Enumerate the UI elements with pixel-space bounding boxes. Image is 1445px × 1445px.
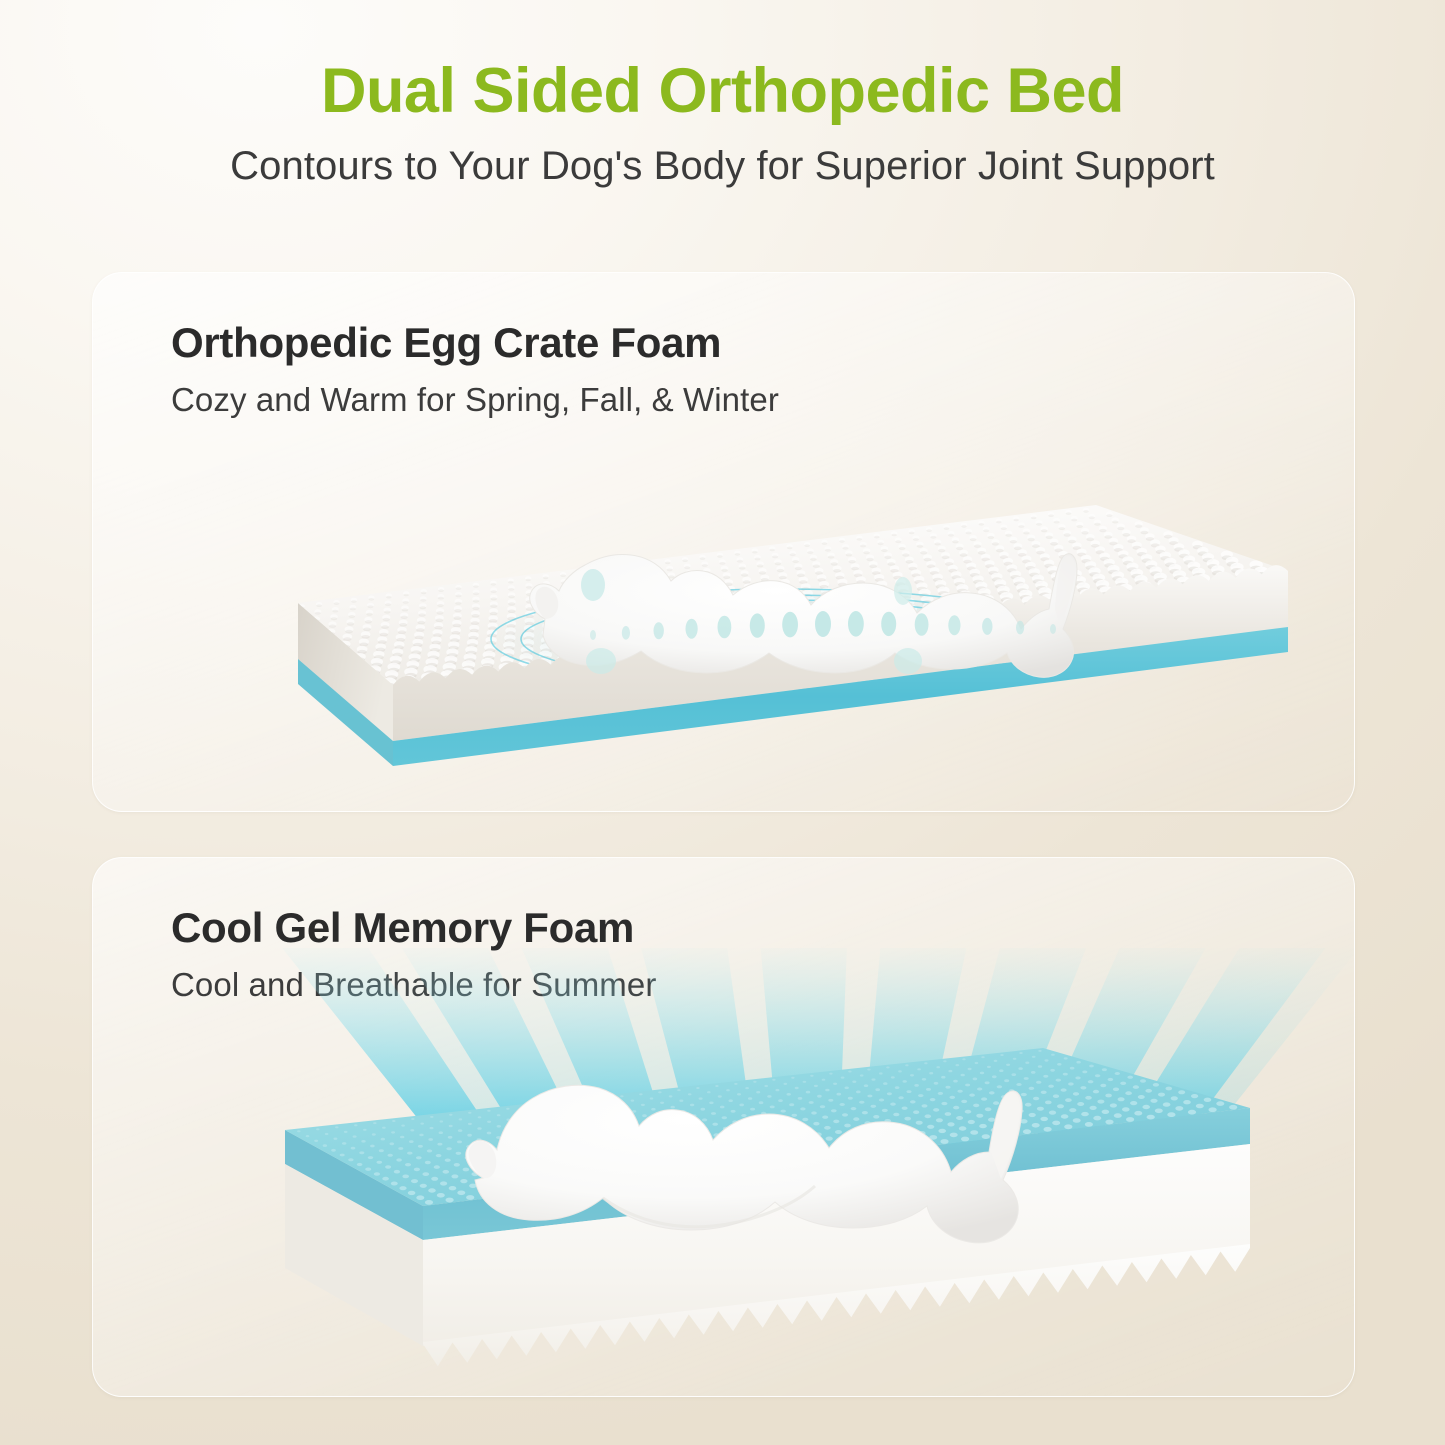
joint-dot	[586, 648, 616, 674]
egg-crate-foam-illustration	[93, 423, 1354, 811]
joint-dot	[581, 569, 605, 601]
feature-card-cool-gel-memory-foam: Cool Gel Memory Foam Cool and Breathable…	[92, 857, 1355, 1397]
feature-card-egg-crate-foam: Orthopedic Egg Crate Foam Cozy and Warm …	[92, 272, 1355, 812]
joint-dot	[894, 648, 922, 674]
card-title: Orthopedic Egg Crate Foam	[171, 319, 721, 367]
page-title: Dual Sided Orthopedic Bed	[0, 58, 1445, 124]
card-subtitle: Cozy and Warm for Spring, Fall, & Winter	[171, 381, 779, 419]
infographic-root: Dual Sided Orthopedic Bed Contours to Yo…	[0, 0, 1445, 1445]
cool-gel-foam-illustration	[93, 948, 1354, 1396]
joint-dot	[894, 577, 912, 605]
page-subtitle: Contours to Your Dog's Body for Superior…	[0, 142, 1445, 190]
header: Dual Sided Orthopedic Bed Contours to Yo…	[0, 58, 1445, 190]
card-title: Cool Gel Memory Foam	[171, 904, 634, 952]
